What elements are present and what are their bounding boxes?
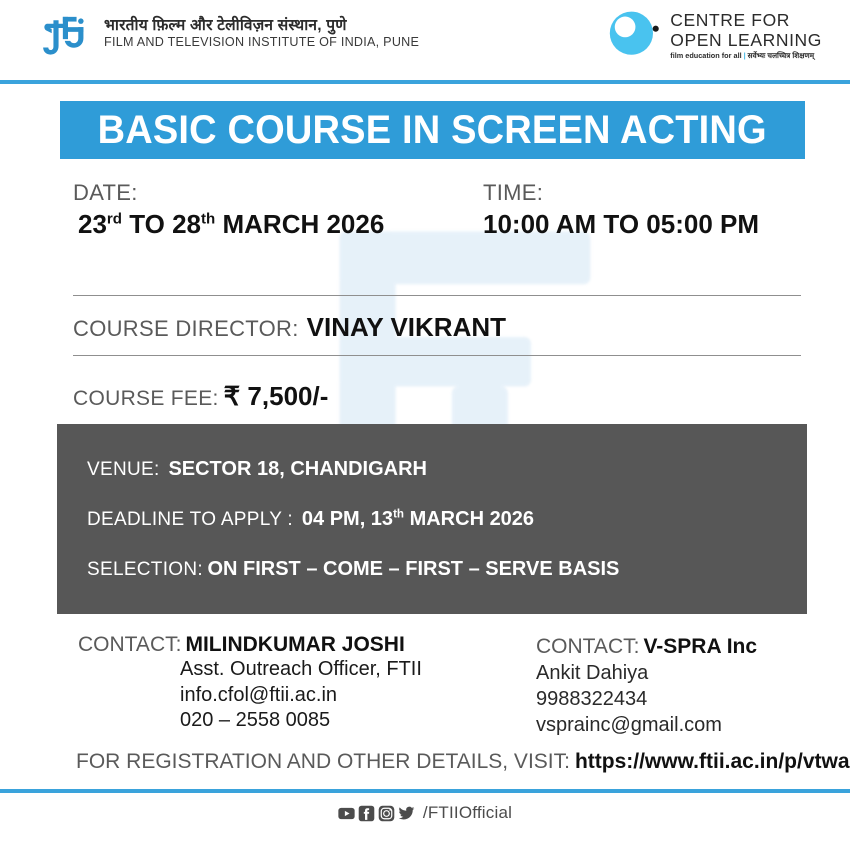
course-fee-label: COURSE FEE: xyxy=(73,387,219,410)
divider-below-director xyxy=(73,355,801,356)
instagram-icon[interactable] xyxy=(378,805,395,822)
deadline-value-prefix: 04 PM, 13 xyxy=(302,508,393,530)
selection-row: SELECTION: ON FIRST – COME – FIRST – SER… xyxy=(87,558,619,581)
date-range-middle: TO 28 xyxy=(122,209,201,239)
date-month-year: MARCH 2026 xyxy=(215,209,384,239)
poster-body: DATE: 23rd TO 28th MARCH 2026 TIME: 10:0… xyxy=(0,0,850,841)
divider-above-director xyxy=(73,295,801,296)
date-day-end-ordinal: th xyxy=(201,210,215,227)
selection-label: SELECTION: xyxy=(87,559,203,580)
date-label: DATE: xyxy=(73,180,138,206)
time-value: 10:00 AM TO 05:00 PM xyxy=(483,209,759,240)
course-fee-value: ₹ 7,500/- xyxy=(224,381,329,411)
course-director-label: COURSE DIRECTOR: xyxy=(73,316,299,341)
course-fee-row: COURSE FEE:₹ 7,500/- xyxy=(73,381,328,412)
venue-value: SECTOR 18, CHANDIGARH xyxy=(168,458,427,480)
venue-label: VENUE: xyxy=(87,459,160,480)
twitter-icon[interactable] xyxy=(398,805,415,822)
date-day-start: 23 xyxy=(78,209,107,239)
date-day-start-ordinal: rd xyxy=(107,210,122,227)
facebook-icon[interactable] xyxy=(358,805,375,822)
date-value: 23rd TO 28th MARCH 2026 xyxy=(78,209,384,240)
social-footer: /FTIIOfficial xyxy=(0,803,850,823)
youtube-icon[interactable] xyxy=(338,805,355,822)
deadline-row: DEADLINE TO APPLY : 04 PM, 13th MARCH 20… xyxy=(87,508,534,531)
bottom-accent-rule xyxy=(0,789,850,793)
social-handle: /FTIIOfficial xyxy=(423,803,512,823)
poster-canvas: भारतीय फ़िल्म और टेलीविज़न संस्थान, पुणे… xyxy=(0,0,850,841)
details-panel: VENUE: SECTOR 18, CHANDIGARH DEADLINE TO… xyxy=(57,424,807,614)
venue-row: VENUE: SECTOR 18, CHANDIGARH xyxy=(87,458,427,481)
deadline-value-suffix: MARCH 2026 xyxy=(404,508,534,530)
deadline-ordinal: th xyxy=(393,507,404,520)
time-label: TIME: xyxy=(483,180,543,206)
deadline-value: 04 PM, 13th MARCH 2026 xyxy=(302,508,534,530)
course-director-value: VINAY VIKRANT xyxy=(307,312,506,342)
deadline-label: DEADLINE TO APPLY : xyxy=(87,509,293,530)
selection-value: ON FIRST – COME – FIRST – SERVE BASIS xyxy=(207,558,619,580)
course-director-row: COURSE DIRECTOR:VINAY VIKRANT xyxy=(73,312,506,343)
